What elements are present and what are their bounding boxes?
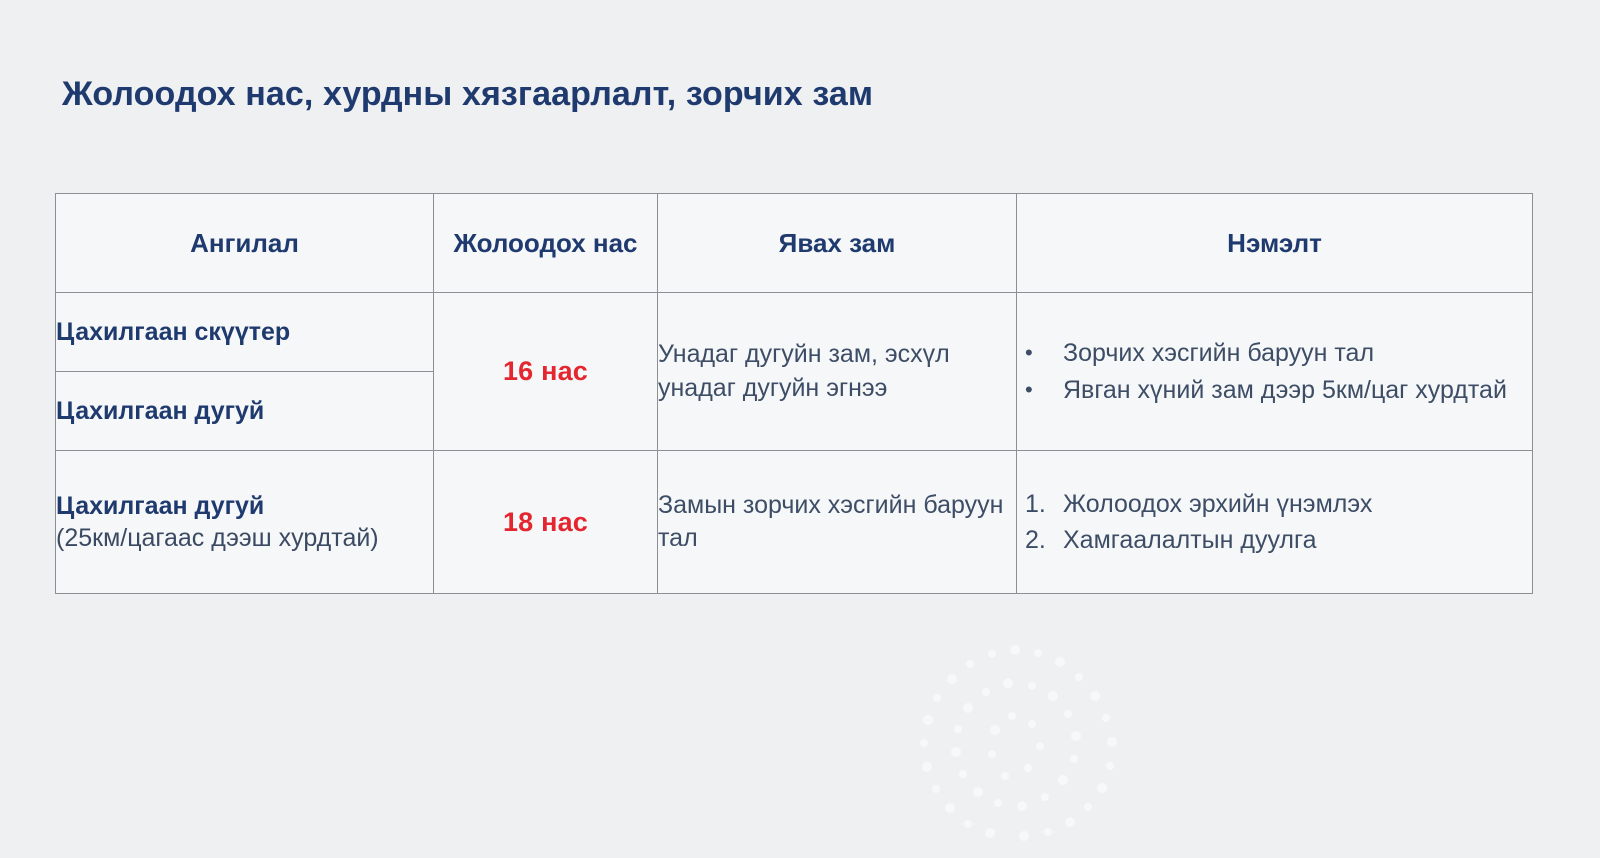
category-name: Цахилгаан дугуй <box>56 490 433 522</box>
table-body: Цахилгаан скүүтер 16 нас Унадаг дугуйн з… <box>56 293 1533 594</box>
extra-bullet-list: • Зорчих хэсгийн баруун тал • Явган хүни… <box>1017 337 1532 406</box>
category-note: (25км/цагаас дээш хурдтай) <box>56 522 433 554</box>
extra-numbered-list: 1. Жолоодох эрхийн үнэмлэх 2. Хамгаалалт… <box>1017 488 1532 557</box>
list-item: • Зорчих хэсгийн баруун тал <box>1017 337 1532 370</box>
number-marker: 2. <box>1017 524 1063 557</box>
number-marker: 1. <box>1017 488 1063 521</box>
bullet-marker-icon: • <box>1017 337 1063 369</box>
column-header-road: Явах зам <box>658 194 1017 293</box>
list-item: 1. Жолоодох эрхийн үнэмлэх <box>1017 488 1532 521</box>
list-item-text: Жолоодох эрхийн үнэмлэх <box>1063 488 1532 521</box>
table-row: Цахилгаан скүүтер 16 нас Унадаг дугуйн з… <box>56 293 1533 372</box>
category-name: Цахилгаан дугуй <box>56 395 433 427</box>
extra-cell: 1. Жолоодох эрхийн үнэмлэх 2. Хамгаалалт… <box>1017 451 1533 594</box>
regulation-table: Ангилал Жолоодох нас Явах зам Нэмэлт Цах… <box>55 193 1533 594</box>
table-header-row: Ангилал Жолоодох нас Явах зам Нэмэлт <box>56 194 1533 293</box>
category-cell: Цахилгаан скүүтер <box>56 293 434 372</box>
column-header-category: Ангилал <box>56 194 434 293</box>
list-item-text: Хамгаалалтын дуулга <box>1063 524 1532 557</box>
table-header: Ангилал Жолоодох нас Явах зам Нэмэлт <box>56 194 1533 293</box>
driving-age-cell: 16 нас <box>434 293 658 451</box>
list-item-text: Явган хүний зам дээр 5км/цаг хурдтай <box>1063 374 1532 407</box>
column-header-driving-age: Жолоодох нас <box>434 194 658 293</box>
category-cell: Цахилгаан дугуй <box>56 372 434 451</box>
page-title: Жолоодох нас, хурдны хязгаарлалт, зорчих… <box>62 75 873 114</box>
dotted-circle-watermark <box>900 628 1130 858</box>
road-cell: Унадаг дугуйн зам, эсхүл унадаг дугуйн э… <box>658 293 1017 451</box>
column-header-extra: Нэмэлт <box>1017 194 1533 293</box>
extra-cell: • Зорчих хэсгийн баруун тал • Явган хүни… <box>1017 293 1533 451</box>
bullet-marker-icon: • <box>1017 374 1063 406</box>
list-item: • Явган хүний зам дээр 5км/цаг хурдтай <box>1017 374 1532 407</box>
list-item-text: Зорчих хэсгийн баруун тал <box>1063 337 1532 370</box>
driving-age-cell: 18 нас <box>434 451 658 594</box>
spec-table-container: Ангилал Жолоодох нас Явах зам Нэмэлт Цах… <box>55 193 1532 594</box>
category-cell: Цахилгаан дугуй (25км/цагаас дээш хурдта… <box>56 451 434 594</box>
table-row: Цахилгаан дугуй (25км/цагаас дээш хурдта… <box>56 451 1533 594</box>
category-name: Цахилгаан скүүтер <box>56 316 433 348</box>
list-item: 2. Хамгаалалтын дуулга <box>1017 524 1532 557</box>
road-cell: Замын зорчих хэсгийн баруун тал <box>658 451 1017 594</box>
